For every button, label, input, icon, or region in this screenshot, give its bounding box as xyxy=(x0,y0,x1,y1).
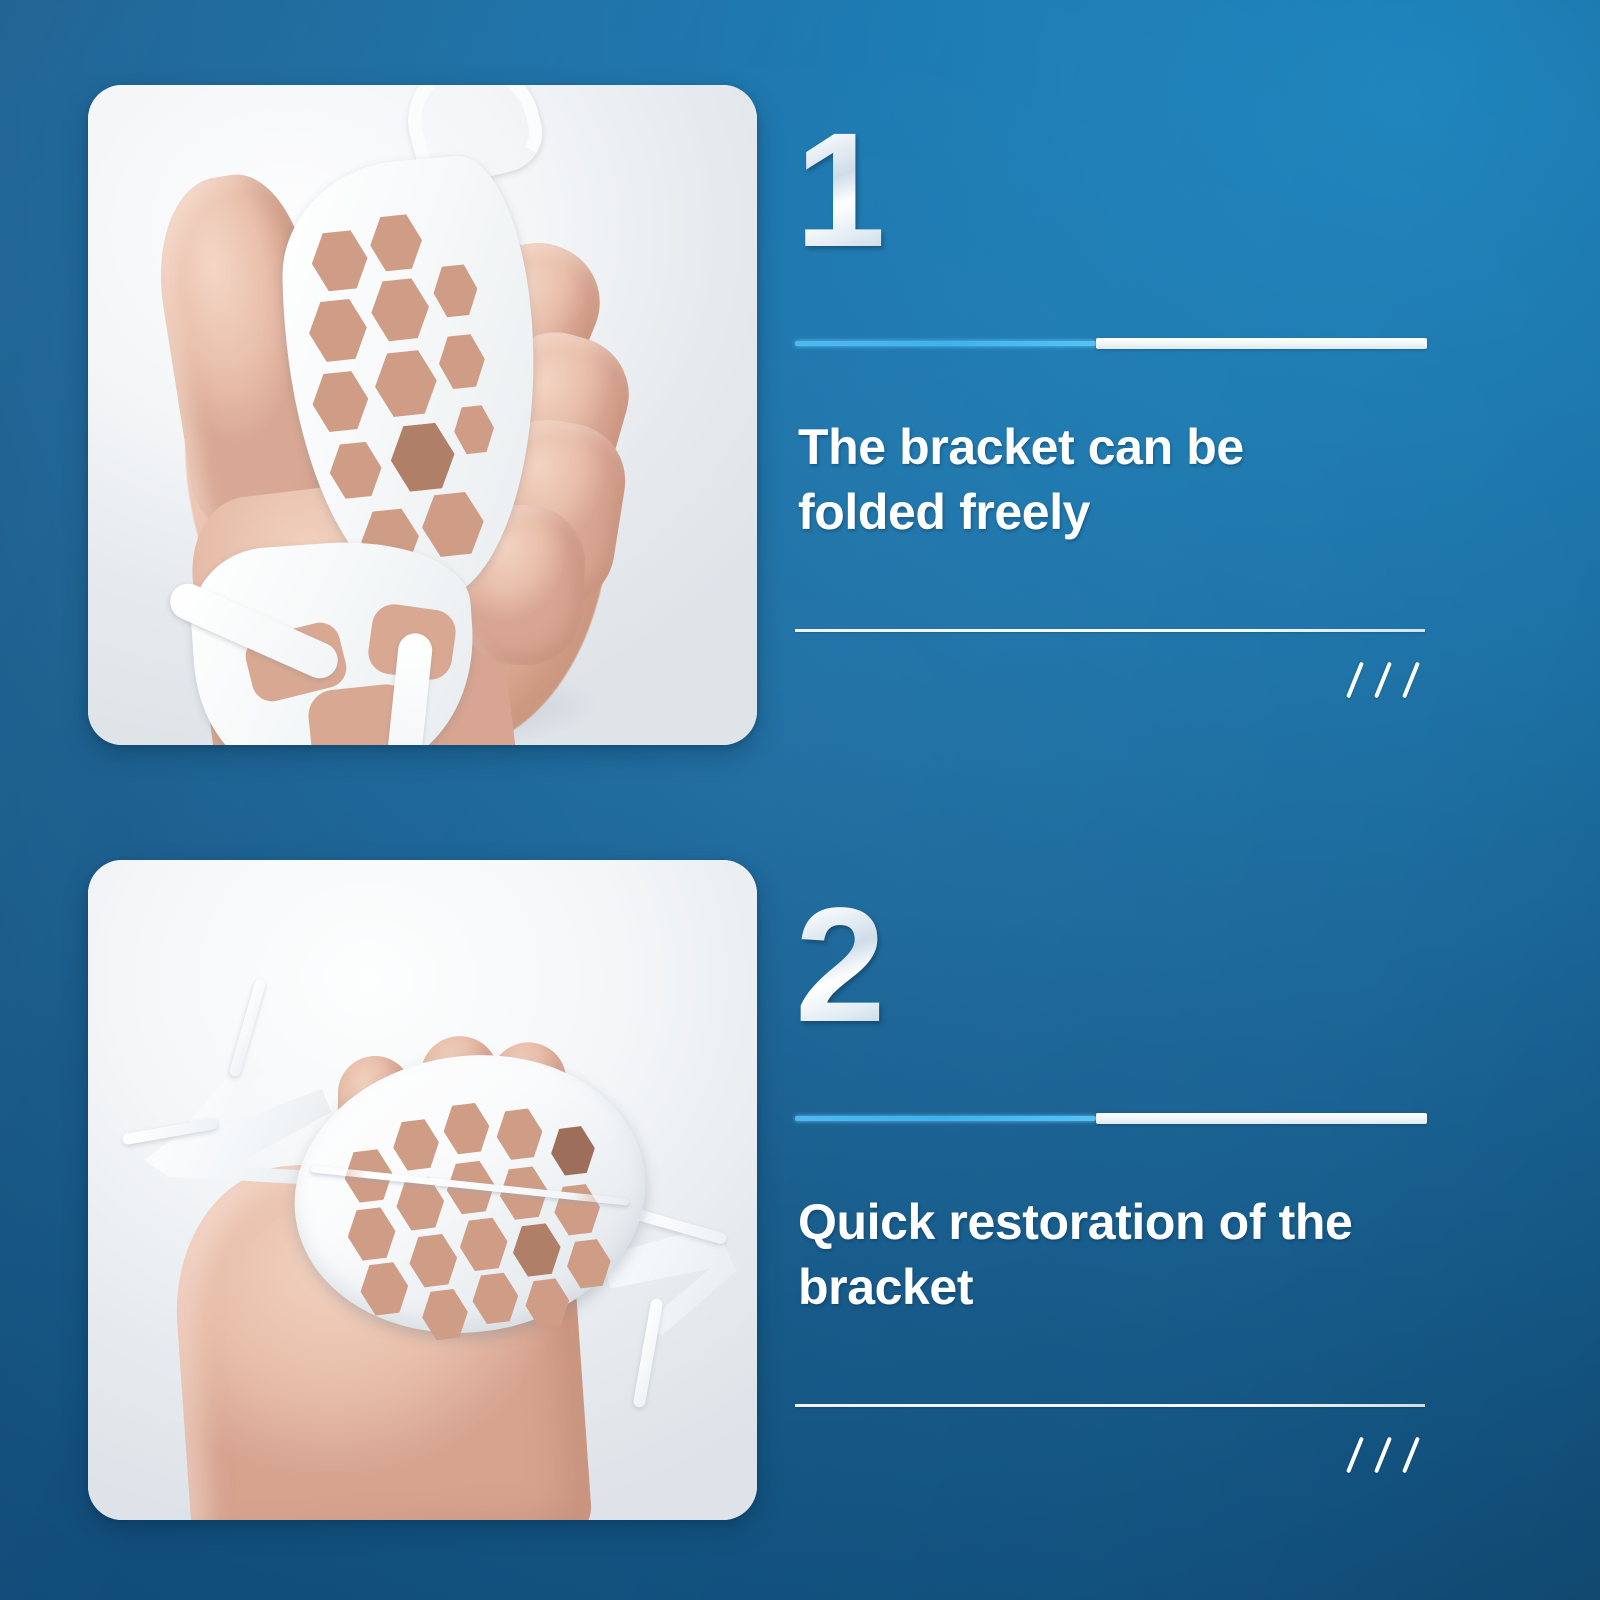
bracket-ear-hook xyxy=(633,1298,664,1408)
feature-panel-1: 1 The bracket can be folded freely xyxy=(0,25,1600,785)
feature-headline-2: Quick restoration of the bracket xyxy=(798,1190,1398,1320)
slash-decoration-icon xyxy=(1347,1436,1427,1478)
feature-text-2: 2 Quick restoration of the bracket xyxy=(795,800,1430,1560)
product-photo-card-2 xyxy=(88,860,757,1520)
mask-bracket-folded xyxy=(184,85,604,745)
product-photo-2 xyxy=(88,860,757,1520)
progress-rule-1 xyxy=(795,338,1427,348)
rule-accent-segment xyxy=(795,341,1096,346)
rule-white-segment xyxy=(1096,338,1427,349)
feature-panel-2: 2 Quick restoration of the bracket xyxy=(0,800,1600,1560)
step-number-1: 1 xyxy=(795,115,884,265)
feature-headline-1: The bracket can be folded freely xyxy=(798,415,1398,545)
product-photo-1 xyxy=(88,85,757,745)
divider-line-2 xyxy=(795,1404,1425,1407)
step-number-2: 2 xyxy=(795,890,884,1040)
rule-accent-segment xyxy=(795,1116,1096,1121)
mask-bracket-restored xyxy=(114,930,734,1460)
rule-white-segment xyxy=(1096,1113,1427,1124)
slash-decoration-icon xyxy=(1347,661,1427,703)
feature-text-1: 1 The bracket can be folded freely xyxy=(795,25,1430,785)
divider-line-1 xyxy=(795,629,1425,632)
product-photo-card-1 xyxy=(88,85,757,745)
progress-rule-2 xyxy=(795,1113,1427,1123)
